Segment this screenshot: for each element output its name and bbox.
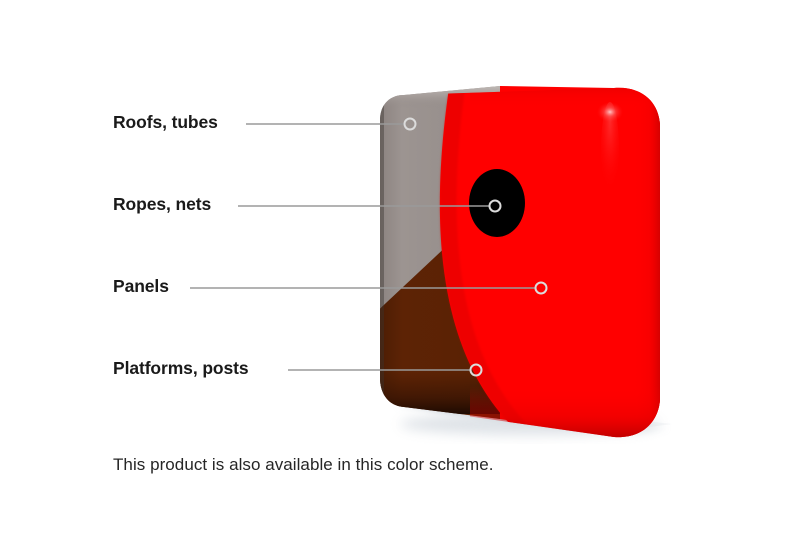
caption-text: This product is also available in this c…: [113, 455, 494, 475]
callout-label-ropes-nets: Ropes, nets: [113, 196, 211, 214]
product-red-sweep: [440, 84, 700, 450]
product-hole: [469, 169, 525, 237]
callout-label-platforms-posts: Platforms, posts: [113, 360, 249, 378]
product-illustration: [0, 0, 800, 533]
page-canvas: Roofs, tubes Ropes, nets Panels Platform…: [0, 0, 800, 533]
callout-label-panels: Panels: [113, 278, 169, 296]
callout-label-roofs-tubes: Roofs, tubes: [113, 114, 218, 132]
